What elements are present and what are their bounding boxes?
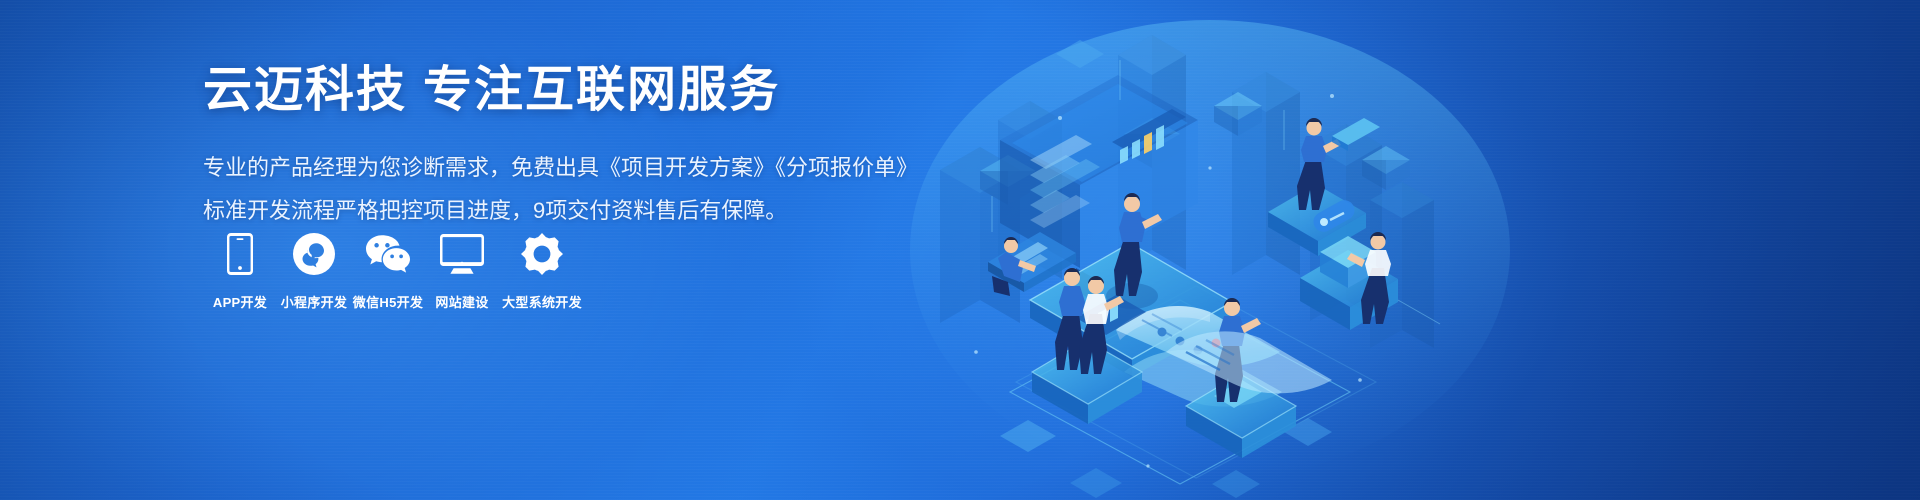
service-item-miniprogram[interactable]: 小程序开发 — [277, 232, 351, 311]
service-item-system[interactable]: 大型系统开发 — [499, 232, 585, 311]
banner-title-brand: 云迈科技 — [203, 63, 407, 117]
wechat-icon — [365, 232, 411, 276]
mobile-phone-icon — [227, 232, 253, 276]
banner-title-tagline: 专注互联网服务 — [423, 63, 780, 117]
promo-banner: 云迈科技专注互联网服务 专业的产品经理为您诊断需求，免费出具《项目开发方案》《分… — [0, 0, 1920, 500]
banner-subtitle-line2: 标准开发流程严格把控项目进度，9项交付资料售后有保障。 — [203, 200, 933, 222]
service-item-wechat[interactable]: 微信H5开发 — [351, 232, 425, 311]
banner-copy: 云迈科技专注互联网服务 专业的产品经理为您诊断需求，免费出具《项目开发方案》《分… — [203, 66, 933, 222]
service-label: 小程序开发 — [281, 292, 348, 311]
service-label: APP开发 — [213, 292, 267, 311]
mini-program-icon — [293, 232, 335, 276]
service-label: 大型系统开发 — [502, 292, 582, 311]
banner-title: 云迈科技专注互联网服务 — [203, 66, 933, 115]
isometric-tech-illustration — [880, 0, 1920, 500]
service-label: 微信H5开发 — [353, 292, 423, 311]
service-label: 网站建设 — [435, 292, 488, 311]
banner-subtitle-line1: 专业的产品经理为您诊断需求，免费出具《项目开发方案》《分项报价单》 — [203, 157, 933, 179]
gear-icon — [521, 232, 563, 276]
monitor-icon — [440, 232, 484, 276]
service-item-app[interactable]: APP开发 — [203, 232, 277, 311]
service-list: APP开发 小程序开发 — [203, 232, 585, 311]
service-item-website[interactable]: 网站建设 — [425, 232, 499, 311]
